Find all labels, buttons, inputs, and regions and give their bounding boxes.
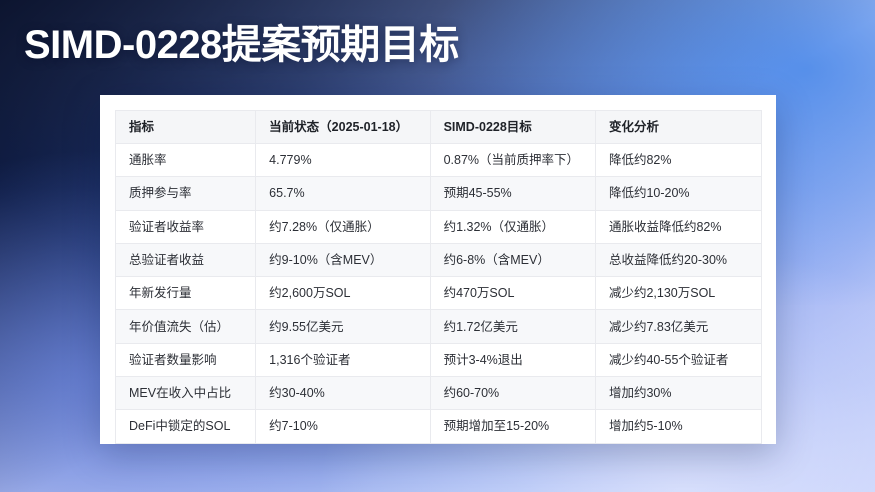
cell-current: 约9.55亿美元	[256, 310, 430, 343]
cell-current: 约2,600万SOL	[256, 277, 430, 310]
cell-change: 增加约30%	[595, 377, 761, 410]
cell-target: 约60-70%	[430, 377, 595, 410]
cell-current: 65.7%	[256, 177, 430, 210]
cell-change: 增加约5-10%	[595, 410, 761, 443]
cell-change: 减少约40-55个验证者	[595, 343, 761, 376]
table-row: 质押参与率65.7%预期45-55%降低约10-20%	[116, 177, 762, 210]
table-row: MEV在收入中占比约30-40%约60-70%增加约30%	[116, 377, 762, 410]
cell-target: 约1.32%（仅通胀）	[430, 210, 595, 243]
cell-metric: 验证者收益率	[116, 210, 256, 243]
cell-current: 约9-10%（含MEV）	[256, 243, 430, 276]
cell-metric: 质押参与率	[116, 177, 256, 210]
cell-metric: 验证者数量影响	[116, 343, 256, 376]
column-header-metric: 指标	[116, 111, 256, 144]
cell-metric: MEV在收入中占比	[116, 377, 256, 410]
cell-target: 0.87%（当前质押率下）	[430, 144, 595, 177]
table-row: 年价值流失（估）约9.55亿美元约1.72亿美元减少约7.83亿美元	[116, 310, 762, 343]
table-header-row: 指标 当前状态（2025-01-18） SIMD-0228目标 变化分析	[116, 111, 762, 144]
cell-target: 约6-8%（含MEV）	[430, 243, 595, 276]
cell-change: 总收益降低约20-30%	[595, 243, 761, 276]
table-row: 验证者数量影响1,316个验证者预计3-4%退出减少约40-55个验证者	[116, 343, 762, 376]
cell-current: 约30-40%	[256, 377, 430, 410]
cell-target: 约1.72亿美元	[430, 310, 595, 343]
cell-metric: DeFi中锁定的SOL	[116, 410, 256, 443]
cell-target: 预期45-55%	[430, 177, 595, 210]
table-row: 验证者收益率约7.28%（仅通胀）约1.32%（仅通胀）通胀收益降低约82%	[116, 210, 762, 243]
cell-current: 1,316个验证者	[256, 343, 430, 376]
cell-change: 降低约10-20%	[595, 177, 761, 210]
column-header-current: 当前状态（2025-01-18）	[256, 111, 430, 144]
table-row: 总验证者收益约9-10%（含MEV）约6-8%（含MEV）总收益降低约20-30…	[116, 243, 762, 276]
cell-current: 约7.28%（仅通胀）	[256, 210, 430, 243]
cell-metric: 通胀率	[116, 144, 256, 177]
cell-target: 约470万SOL	[430, 277, 595, 310]
cell-current: 4.779%	[256, 144, 430, 177]
table-row: 年新发行量约2,600万SOL约470万SOL减少约2,130万SOL	[116, 277, 762, 310]
cell-current: 约7-10%	[256, 410, 430, 443]
column-header-target: SIMD-0228目标	[430, 111, 595, 144]
table-row: 通胀率4.779%0.87%（当前质押率下）降低约82%	[116, 144, 762, 177]
cell-change: 减少约2,130万SOL	[595, 277, 761, 310]
table-header: 指标 当前状态（2025-01-18） SIMD-0228目标 变化分析	[116, 111, 762, 144]
cell-metric: 年新发行量	[116, 277, 256, 310]
cell-change: 减少约7.83亿美元	[595, 310, 761, 343]
table-card: 指标 当前状态（2025-01-18） SIMD-0228目标 变化分析 通胀率…	[100, 95, 776, 444]
cell-target: 预期增加至15-20%	[430, 410, 595, 443]
column-header-change: 变化分析	[595, 111, 761, 144]
cell-metric: 年价值流失（估）	[116, 310, 256, 343]
table-row: DeFi中锁定的SOL约7-10%预期增加至15-20%增加约5-10%	[116, 410, 762, 443]
table-body: 通胀率4.779%0.87%（当前质押率下）降低约82%质押参与率65.7%预期…	[116, 144, 762, 444]
cell-change: 通胀收益降低约82%	[595, 210, 761, 243]
page-title: SIMD-0228提案预期目标	[24, 22, 459, 68]
cell-change: 降低约82%	[595, 144, 761, 177]
cell-target: 预计3-4%退出	[430, 343, 595, 376]
comparison-table: 指标 当前状态（2025-01-18） SIMD-0228目标 变化分析 通胀率…	[115, 110, 762, 444]
cell-metric: 总验证者收益	[116, 243, 256, 276]
